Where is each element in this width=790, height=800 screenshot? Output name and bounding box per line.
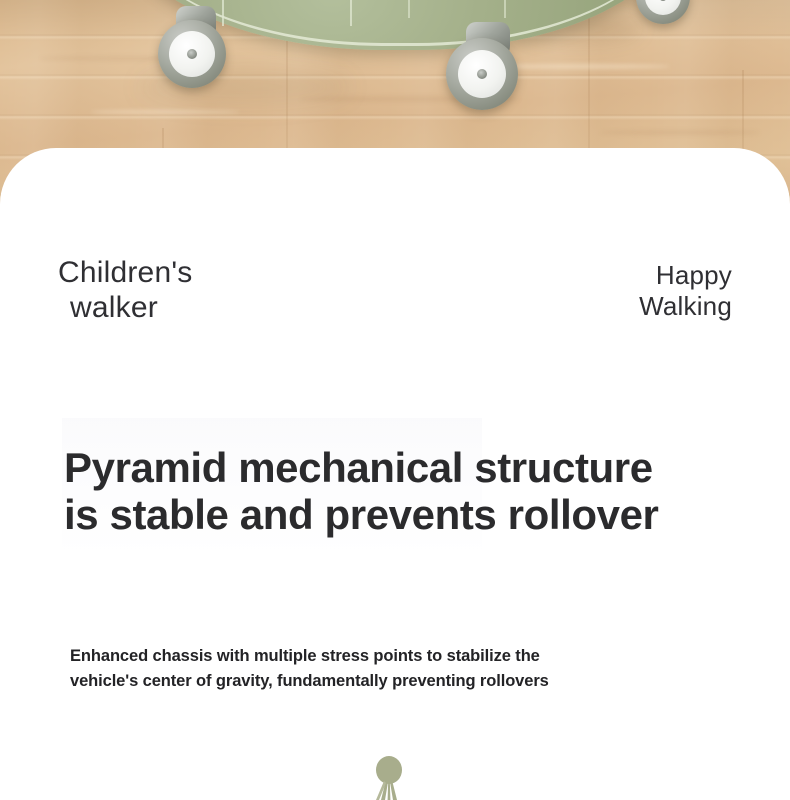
caster-wheel-center xyxy=(446,22,526,112)
caster-wheel-right-partial xyxy=(636,0,696,30)
feature-description: Enhanced chassis with multiple stress po… xyxy=(70,644,750,694)
caster-wheel-left xyxy=(158,6,232,92)
headline-line1: Pyramid mechanical structure xyxy=(64,444,744,491)
eyebrow-tagline: Happy Walking xyxy=(639,260,732,322)
eyebrow-product-name: Children's walker xyxy=(58,256,388,326)
eyebrow-left-line1: Children's xyxy=(58,256,192,289)
headline-line2: is stable and prevents rollover xyxy=(64,491,744,538)
pyramid-structure-icon xyxy=(366,752,412,800)
subcopy-line1: Enhanced chassis with multiple stress po… xyxy=(70,644,750,669)
page-title: Pyramid mechanical structure is stable a… xyxy=(64,444,744,538)
eyebrow-right-line2: Walking xyxy=(639,291,732,322)
subcopy-line2: vehicle's center of gravity, fundamental… xyxy=(70,669,750,694)
eyebrow-right-line1: Happy xyxy=(639,260,732,291)
walker-body-groove xyxy=(222,0,352,26)
eyebrow-left-line2: walker xyxy=(58,291,388,326)
walker-body-groove-secondary xyxy=(408,0,506,18)
product-feature-page: Children's walker Happy Walking Pyramid … xyxy=(0,0,790,800)
